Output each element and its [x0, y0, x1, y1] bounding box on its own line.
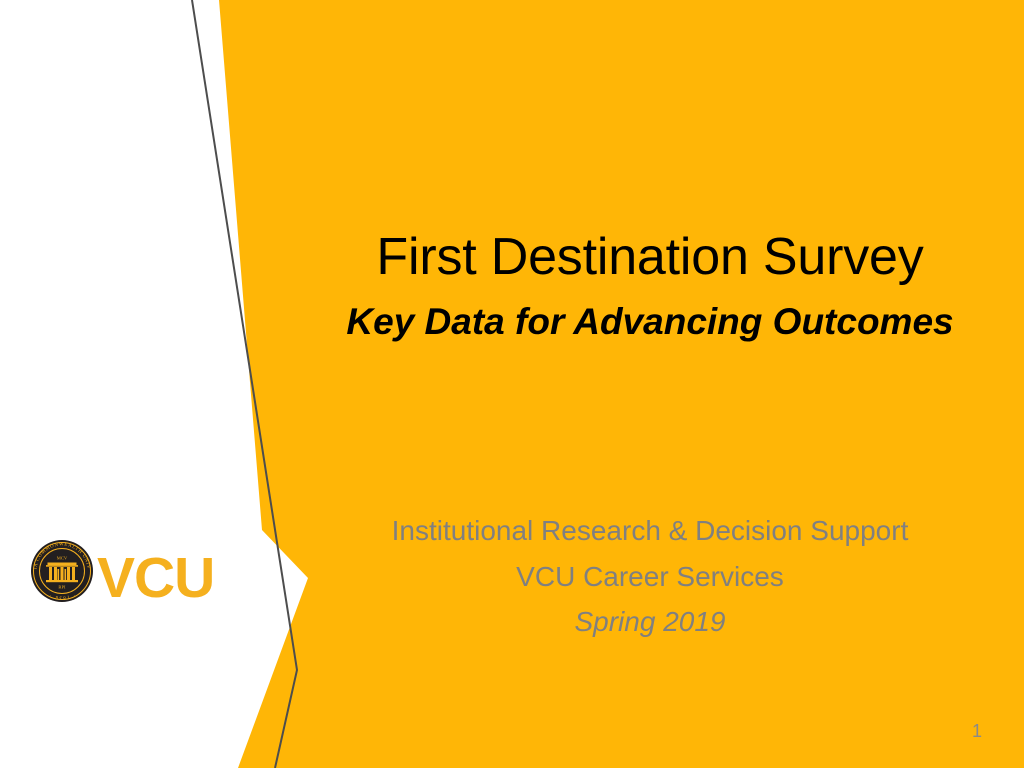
title-block: First Destination Survey Key Data for Ad…: [300, 228, 1000, 345]
page-subtitle: Key Data for Advancing Outcomes: [300, 300, 1000, 344]
page-number: 1: [972, 721, 982, 742]
slide-text-layer: First Destination Survey Key Data for Ad…: [0, 0, 1024, 768]
credits-block: Institutional Research & Decision Suppor…: [300, 508, 1000, 645]
page-title: First Destination Survey: [300, 228, 1000, 286]
credit-line-department: VCU Career Services: [300, 554, 1000, 600]
slide-canvas: VIRGINIA COMMONWEALTH UNIVERSITY · 1838 …: [0, 0, 1024, 768]
credit-line-organization: Institutional Research & Decision Suppor…: [300, 508, 1000, 554]
credit-line-date: Spring 2019: [300, 599, 1000, 645]
